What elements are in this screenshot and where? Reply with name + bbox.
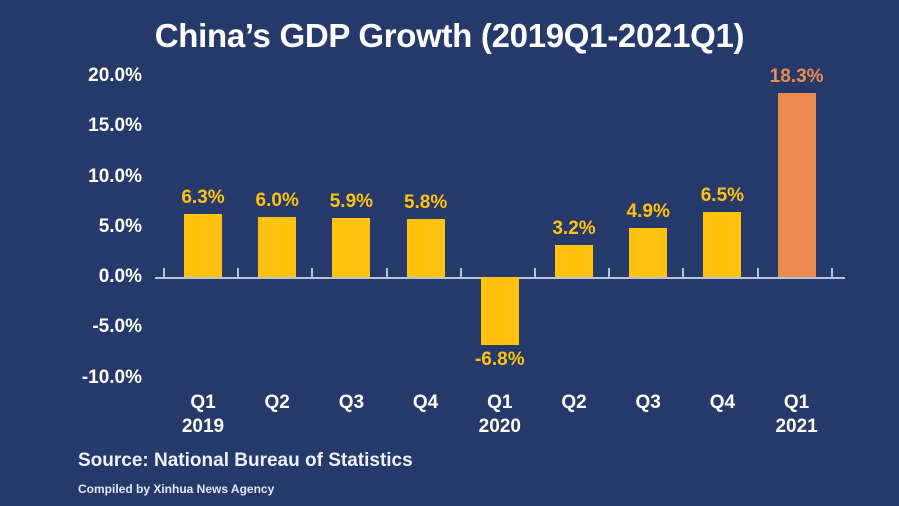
y-axis-tick-label: 5.0%	[52, 216, 142, 238]
x-axis-tick	[311, 268, 313, 277]
x-axis-tick	[237, 268, 239, 277]
x-axis-label-year: 2021	[752, 415, 842, 439]
x-axis-tick	[534, 268, 536, 277]
compiled-attribution: Compiled by Xinhua News Agency	[78, 482, 274, 496]
bar-value-label: 18.3%	[752, 66, 842, 88]
source-attribution: Source: National Bureau of Statistics	[78, 450, 413, 472]
bar-value-label: 5.8%	[381, 192, 471, 214]
x-axis-tick	[163, 268, 165, 277]
bar	[407, 219, 445, 277]
y-axis-tick-label: 20.0%	[52, 65, 142, 87]
x-axis-tick	[831, 268, 833, 277]
x-axis-tick	[608, 268, 610, 277]
y-axis-tick-label: -5.0%	[52, 316, 142, 338]
gdp-growth-chart: China’s GDP Growth (2019Q1-2021Q1) 20.0%…	[0, 0, 899, 506]
x-axis-tick	[682, 268, 684, 277]
bar	[778, 93, 816, 277]
bar	[184, 214, 222, 277]
y-axis-tick-label: 10.0%	[52, 166, 142, 188]
bar	[555, 245, 593, 277]
y-axis-tick-label: 0.0%	[52, 266, 142, 288]
x-axis-tick	[757, 268, 759, 277]
bar-value-label: 6.5%	[677, 185, 767, 207]
bar-value-label: -6.8%	[455, 349, 545, 371]
bar	[258, 217, 296, 277]
bar	[703, 212, 741, 277]
bar	[629, 228, 667, 277]
bar	[481, 277, 519, 345]
x-axis-label-year: 2020	[455, 415, 545, 439]
y-axis-tick-label: 15.0%	[52, 115, 142, 137]
x-axis-tick	[460, 268, 462, 277]
x-axis-label-quarter: Q1	[752, 391, 842, 415]
plot-area: 20.0%15.0%10.0%5.0%0.0%-5.0%-10.0% 6.3%6…	[0, 0, 899, 506]
x-axis-label: Q12021	[752, 391, 842, 439]
x-axis-tick	[386, 268, 388, 277]
y-axis-tick-label: -10.0%	[52, 367, 142, 389]
x-axis-label-year: 2019	[158, 415, 248, 439]
bar	[332, 218, 370, 277]
